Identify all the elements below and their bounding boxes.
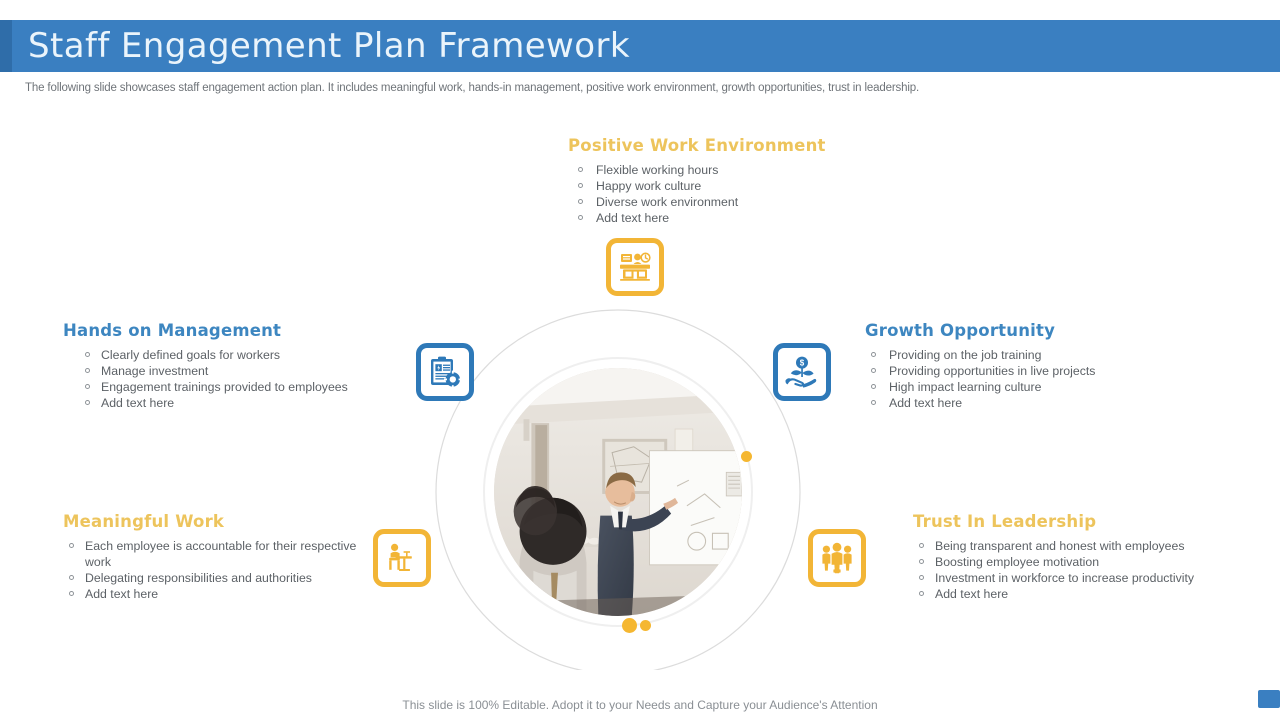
list-item: Providing on the job training [865,347,1195,363]
list-item: Engagement trainings provided to employe… [79,379,393,395]
section-bullet-list: Each employee is accountable for their r… [63,538,363,602]
icon-tile-trust-in-leadership[interactable] [808,529,866,587]
list-item: Happy work culture [572,178,868,194]
list-item: Investment in workforce to increase prod… [913,570,1233,586]
list-item: Delegating responsibilities and authorit… [63,570,363,586]
svg-text:$: $ [800,359,805,368]
section-growth-opportunity: Growth Opportunity Providing on the job … [865,321,1195,411]
icon-tile-positive-work-environment[interactable] [606,238,664,296]
section-positive-work-environment: Positive Work Environment Flexible worki… [568,136,868,226]
list-item: Add text here [865,395,1195,411]
icon-tile-hands-on-management[interactable] [416,343,474,401]
page-subtitle: The following slide showcases staff enga… [25,82,919,94]
center-image-frame [483,357,753,627]
person-at-desk-icon [386,542,418,574]
section-hands-on-management: Hands on Management Clearly defined goal… [63,321,393,411]
center-image [494,368,742,616]
icon-tile-meaningful-work[interactable] [373,529,431,587]
hand-plant-coin-icon: $ [785,356,819,388]
list-item: Diverse work environment [572,194,868,210]
page-title: Staff Engagement Plan Framework [28,26,630,66]
list-item: Each employee is accountable for their r… [63,538,363,570]
section-bullet-list: Flexible working hours Happy work cultur… [572,162,868,226]
section-title: Meaningful Work [63,512,363,531]
corner-chip [1258,690,1280,708]
list-item: Add text here [63,586,363,602]
section-title: Growth Opportunity [865,321,1195,340]
list-item: Manage investment [79,363,393,379]
list-item: Add text here [572,210,868,226]
list-item: Flexible working hours [572,162,868,178]
list-item: High impact learning culture [865,379,1195,395]
list-item: Boosting employee motivation [913,554,1233,570]
whiteboard-presentation-photo [494,368,742,616]
footer-note: This slide is 100% Editable. Adopt it to… [0,698,1280,712]
section-trust-in-leadership: Trust In Leadership Being transparent an… [913,512,1233,602]
section-bullet-list: Being transparent and honest with employ… [913,538,1233,602]
team-group-icon [820,542,854,574]
list-item: Being transparent and honest with employ… [913,538,1233,554]
section-bullet-list: Clearly defined goals for workers Manage… [79,347,393,411]
section-title: Positive Work Environment [568,136,868,155]
section-bullet-list: Providing on the job training Providing … [865,347,1195,411]
ring-dot-bottom-large [622,618,637,633]
list-item: Providing opportunities in live projects [865,363,1195,379]
ring-dot-right [741,451,752,462]
section-title: Trust In Leadership [913,512,1233,531]
header-accent-stripe [0,20,12,72]
list-item: Add text here [913,586,1233,602]
icon-tile-growth-opportunity[interactable]: $ [773,343,831,401]
section-meaningful-work: Meaningful Work Each employee is account… [63,512,363,602]
list-item: Clearly defined goals for workers [79,347,393,363]
ring-dot-bottom-small [640,620,651,631]
section-title: Hands on Management [63,321,393,340]
reception-desk-icon [618,252,652,282]
list-item: Add text here [79,395,393,411]
clipboard-gear-icon [429,356,461,388]
